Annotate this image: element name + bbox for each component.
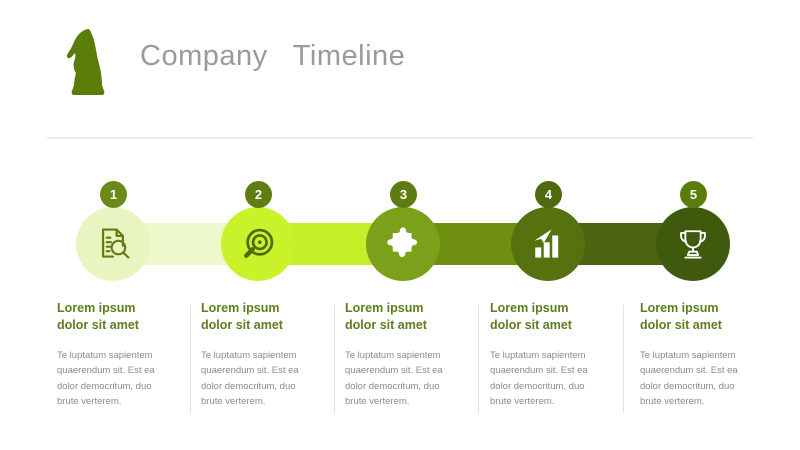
step-badge-5: 5: [680, 181, 707, 208]
timeline-step-1[interactable]: [76, 207, 150, 281]
column-body: Te luptatum sapientem quaerendum sit. Es…: [640, 348, 770, 410]
timeline-graphic: 1 2 3 4 5: [0, 175, 800, 285]
step-badge-2: 2: [245, 181, 272, 208]
growth-chart-icon: [531, 227, 565, 261]
column-heading: Lorem ipsum dolor sit amet: [640, 300, 770, 334]
timeline-step-3[interactable]: [366, 207, 440, 281]
column-divider: [478, 305, 479, 413]
step-badge-1: 1: [100, 181, 127, 208]
column-divider: [623, 305, 624, 413]
timeline-step-4[interactable]: [511, 207, 585, 281]
column-heading: Lorem ipsum dolor sit amet: [490, 300, 620, 334]
page-header: Company Timeline: [0, 0, 800, 140]
document-search-icon: [95, 226, 131, 262]
timeline-step-2[interactable]: [221, 207, 295, 281]
step-descriptions: Lorem ipsum dolor sit amet Te luptatum s…: [0, 300, 800, 420]
target-magnifier-icon: [240, 226, 276, 262]
trophy-icon: [676, 227, 710, 261]
column-body: Te luptatum sapientem quaerendum sit. Es…: [57, 348, 187, 410]
timeline-step-5[interactable]: [656, 207, 730, 281]
description-column-1: Lorem ipsum dolor sit amet Te luptatum s…: [57, 300, 187, 409]
column-heading: Lorem ipsum dolor sit amet: [57, 300, 187, 334]
column-divider: [190, 305, 191, 413]
description-column-2: Lorem ipsum dolor sit amet Te luptatum s…: [201, 300, 331, 409]
description-column-4: Lorem ipsum dolor sit amet Te luptatum s…: [490, 300, 620, 409]
step-badge-4: 4: [535, 181, 562, 208]
header-divider: [47, 137, 753, 139]
column-divider: [334, 305, 335, 413]
chess-knight-icon: [62, 27, 110, 97]
puzzle-piece-icon: [386, 227, 420, 261]
column-body: Te luptatum sapientem quaerendum sit. Es…: [201, 348, 331, 410]
column-body: Te luptatum sapientem quaerendum sit. Es…: [490, 348, 620, 410]
column-heading: Lorem ipsum dolor sit amet: [345, 300, 475, 334]
page-title: Company Timeline: [140, 40, 405, 73]
step-badge-3: 3: [390, 181, 417, 208]
description-column-5: Lorem ipsum dolor sit amet Te luptatum s…: [640, 300, 770, 409]
column-heading: Lorem ipsum dolor sit amet: [201, 300, 331, 334]
column-body: Te luptatum sapientem quaerendum sit. Es…: [345, 348, 475, 410]
description-column-3: Lorem ipsum dolor sit amet Te luptatum s…: [345, 300, 475, 409]
